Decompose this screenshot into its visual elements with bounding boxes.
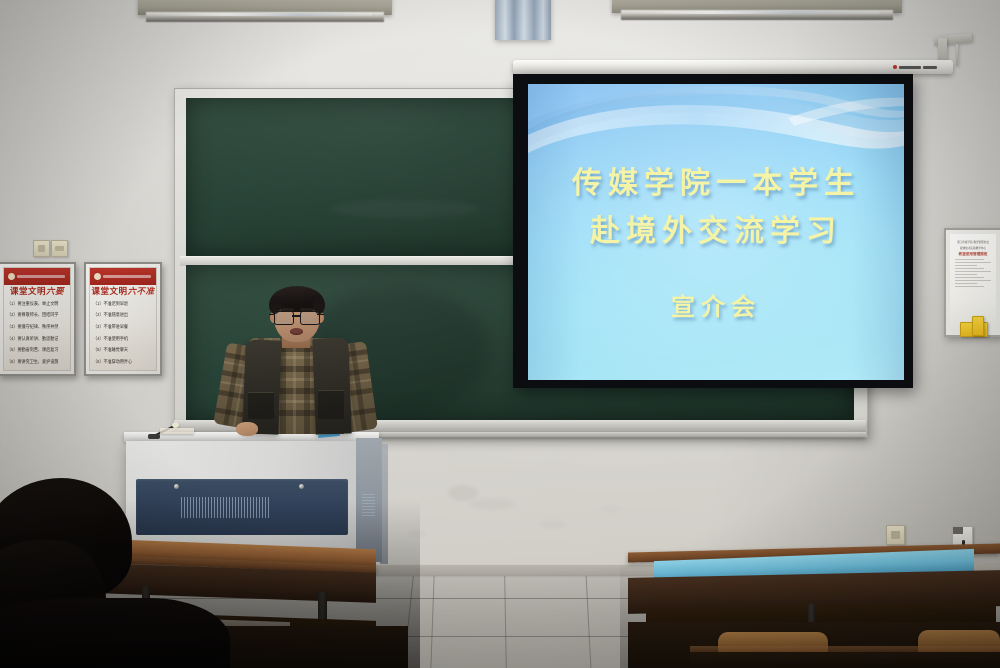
papers-on-podium[interactable] — [160, 428, 194, 434]
wall-switch-plate-a[interactable] — [33, 240, 50, 257]
slide-subtitle: 宣介会 — [528, 287, 904, 322]
presenter-glasses — [270, 311, 324, 325]
poster-classroom-etiquette-six-musts: 课堂文明六要 （1）要注重仪表、举止文明 （2）要尊敬师长、团结同学 （3）要遵… — [0, 262, 76, 376]
switch-rocker — [55, 246, 64, 251]
screen-bracket-hook — [956, 44, 958, 66]
poster-shading — [0, 264, 74, 374]
safety-warning-sticker-icon — [972, 316, 984, 336]
light-reflection — [629, 11, 878, 15]
microphone-base — [148, 434, 160, 439]
brand-name-bar — [899, 66, 921, 69]
outlet-socket-holes — [891, 531, 900, 539]
brand-model-bar — [923, 66, 937, 69]
brand-logo-dot-icon — [893, 65, 897, 69]
poster-shading — [86, 264, 160, 374]
podium-panel-screw — [174, 484, 179, 489]
wall-power-outlet-beige[interactable] — [886, 525, 905, 545]
ceiling-light-fixture-right — [612, 0, 902, 24]
light-housing — [495, 0, 551, 40]
podium-microphone[interactable] — [148, 414, 186, 438]
light-reflection — [153, 13, 371, 17]
plaid-stripe — [304, 338, 310, 434]
ceiling-light-fixture-center — [495, 0, 551, 40]
classroom-photo-scene: 课堂文明六要 （1）要注重仪表、举止文明 （2）要尊敬师长、团结同学 （3）要遵… — [0, 0, 1000, 668]
wall-switch-plate-b[interactable] — [51, 240, 68, 257]
presenter-vest-pocket-right — [318, 390, 344, 419]
plaid-stripe-light — [293, 338, 296, 434]
presenter-vest-left — [242, 339, 281, 434]
slide-title-line-2: 赴境外交流学习 — [528, 206, 904, 250]
projector-screen-roller-housing[interactable] — [513, 60, 953, 74]
poster-classroom-etiquette-six-prohibitions: 课堂文明六不准 （1）不准迟到早退 （2）不准随意进出 （3）不准带进早餐 （4… — [84, 262, 162, 376]
slide-title-line-1: 传媒学院一本学生 — [528, 158, 904, 202]
outlet-socket-holes — [953, 527, 963, 534]
foreground-shadow-overlay — [0, 500, 420, 668]
wall-scuff — [448, 485, 478, 501]
glasses-temple-arm-right — [317, 314, 324, 315]
presenter-mouth-speaking — [290, 328, 303, 335]
ceiling-light-fixture-left — [138, 0, 392, 26]
wall-scuff — [600, 505, 622, 513]
screen-brand-label — [893, 65, 937, 69]
presenter-hand-left — [236, 422, 258, 436]
glasses-bridge — [292, 315, 300, 317]
presenter-vest-right — [312, 337, 351, 434]
presenter-speaker — [222, 288, 372, 440]
glasses-lens-left — [274, 311, 294, 325]
wall-scuff — [540, 520, 566, 529]
chalk-smudge — [330, 200, 480, 218]
switch-rocker — [38, 245, 45, 252]
foreground-shadow-overlay-right — [620, 560, 1000, 668]
glasses-temple-arm-left — [269, 314, 275, 315]
presenter-vest-pocket-left — [248, 392, 274, 419]
podium-panel-screw — [299, 484, 304, 489]
projector-screen-surface[interactable]: 传媒学院一本学生 赴境外交流学习 宣介会 — [528, 84, 904, 380]
wall-scuff — [470, 498, 516, 510]
